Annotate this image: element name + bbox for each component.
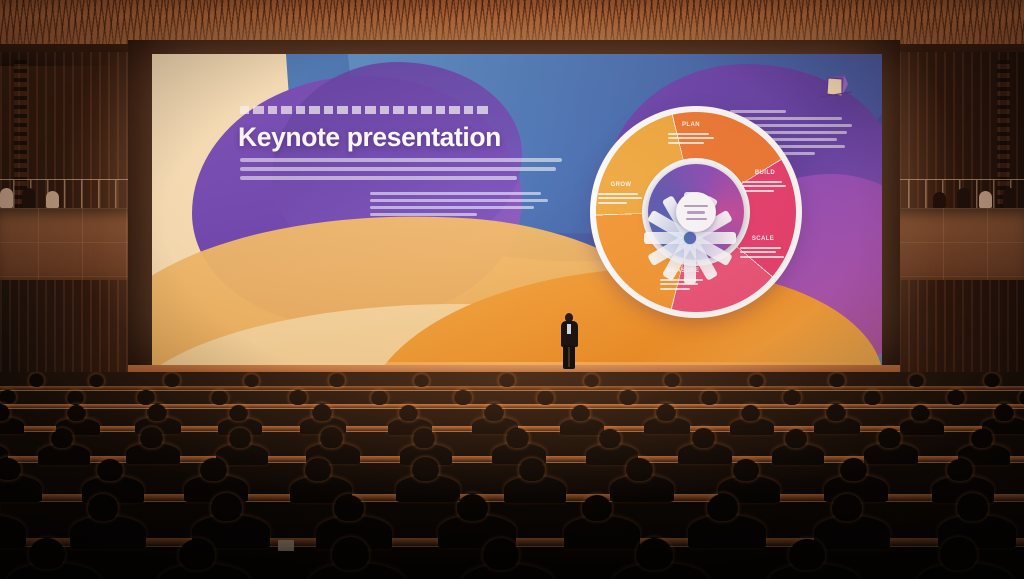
balcony-right-figure: [1003, 188, 1016, 208]
balcony-right-figure: [979, 191, 992, 208]
projection-screen[interactable]: Keynote presentation PLAN: [152, 54, 882, 365]
gear-hub-center-label: [676, 192, 716, 232]
brand-logo: [814, 70, 858, 104]
balcony-right-figure: [957, 188, 970, 208]
audience-seating: [0, 372, 1024, 579]
segmented-donut-diagram[interactable]: PLAN BUILD SCALE MEASURE GROW: [590, 106, 802, 318]
presentation-slide: Keynote presentation PLAN: [152, 54, 882, 365]
balcony-left-figure: [46, 191, 59, 208]
slide-title: Keynote presentation: [238, 122, 501, 153]
speaker-shirt: [567, 324, 571, 334]
speaker-legs: [563, 345, 575, 369]
balcony-right-figure: [933, 192, 946, 208]
balcony-left-figure: [0, 188, 13, 208]
donut-segment-label: PLAN: [668, 120, 714, 146]
slide-secondary-paragraph: [370, 192, 548, 220]
keynote-speaker: [556, 313, 582, 369]
donut-segment-label: BUILD: [742, 168, 788, 194]
slide-eyebrow: [240, 106, 490, 114]
balcony-left-figure: [22, 188, 35, 208]
auditorium-scene: Keynote presentation PLAN: [0, 0, 1024, 579]
slide-intro-paragraph: [240, 158, 562, 185]
donut-segment-label: SCALE: [740, 234, 786, 260]
donut-segment-label: GROW: [598, 180, 644, 206]
